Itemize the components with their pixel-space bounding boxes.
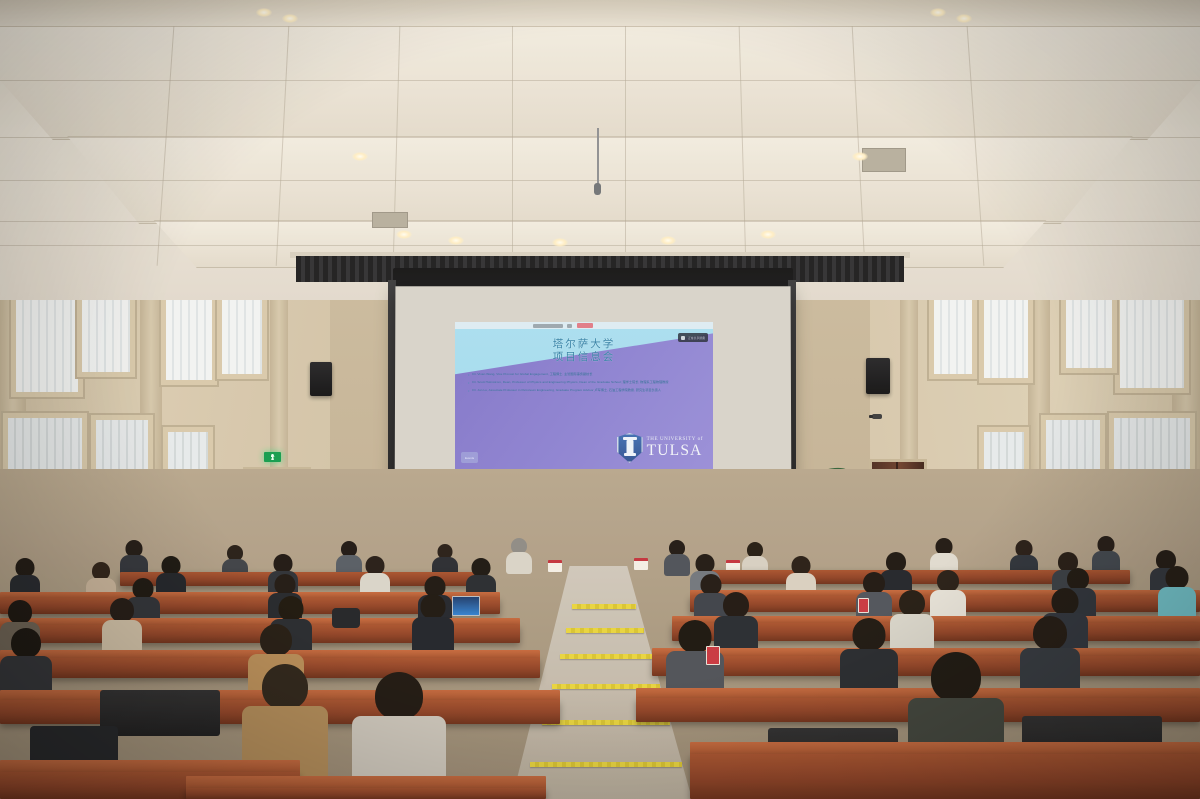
stage-spotlight	[588, 214, 605, 234]
attendee-head	[931, 652, 981, 702]
running-man-icon	[271, 454, 275, 460]
ceiling-downlight	[760, 230, 776, 239]
bullet-icon: •	[468, 372, 469, 377]
stage-spotlight	[718, 210, 735, 230]
attendee	[664, 540, 690, 575]
attendee	[102, 598, 142, 656]
auditorium-photo: 正在共享屏幕 塔尔萨大学 项目信息会 • Dr. Vivan Wang, Vic…	[0, 0, 1200, 799]
attendee-head	[863, 572, 885, 594]
ceiling-seam	[512, 26, 513, 266]
laptop-screen[interactable]	[452, 596, 480, 616]
list-item: • Dr. Jun Lu, Associate Professor in Pet…	[468, 388, 703, 393]
stair-hazard-tape	[560, 654, 652, 659]
attendee-torso	[506, 552, 532, 574]
desk-row	[690, 754, 1200, 799]
logo-main-text: TULSA	[647, 443, 703, 459]
attendee-head	[260, 624, 292, 656]
stair-hazard-tape	[572, 604, 636, 609]
attendee-head	[1067, 568, 1089, 590]
ceiling-tier	[0, 26, 1200, 140]
ceiling-top-strip	[0, 0, 1200, 30]
attendee-head	[133, 578, 154, 599]
attendee-head	[279, 596, 304, 621]
stage-lamp	[483, 214, 492, 236]
hanging-microphone	[594, 183, 601, 195]
stage-lamp	[700, 212, 709, 234]
attendee-head	[8, 600, 32, 624]
ceiling-downlight	[660, 236, 676, 245]
attendee-head	[937, 570, 959, 592]
stage-spotlight	[324, 208, 341, 228]
ceiling-downlight	[552, 238, 568, 247]
table-placard	[634, 558, 648, 570]
stage-lamp	[745, 213, 754, 235]
share-corner-top-left	[455, 322, 481, 338]
stage-lamp	[874, 206, 883, 228]
attendee	[120, 540, 148, 576]
slide-bottom-chip[interactable]: Events	[461, 452, 478, 463]
toolbar-item[interactable]	[533, 324, 563, 328]
stage-lamp	[412, 212, 421, 234]
exit-sign-icon	[264, 452, 281, 462]
slide-bottom-chip-label: Events	[465, 456, 474, 460]
ceiling-downlight	[930, 8, 946, 17]
ceiling-seam	[0, 80, 1200, 81]
slide-title-line1: 塔尔萨大学	[455, 338, 713, 351]
attendee	[412, 594, 454, 656]
slide-bullet-list: • Dr. Vivan Wang, Vice Provost for Globa…	[468, 372, 703, 397]
table-placard	[548, 560, 562, 572]
attendee-head	[275, 574, 296, 595]
ceiling-seam	[625, 26, 626, 266]
stage-lamp	[349, 210, 358, 232]
stage-lamp	[564, 214, 573, 236]
stage-lamp	[632, 214, 641, 236]
attendee-head	[110, 598, 134, 622]
security-camera-icon	[872, 414, 882, 419]
bullet-text: Dr. Vivan Wang, Vice Provost for Global …	[472, 372, 592, 377]
stair-hazard-tape	[566, 628, 644, 633]
ceiling-downlight	[396, 230, 412, 239]
ceiling-seam	[0, 180, 1200, 181]
attendee-head	[1052, 588, 1079, 615]
stage-spotlight	[838, 206, 855, 226]
attendee-head	[11, 628, 41, 658]
ceiling-vent	[862, 148, 906, 172]
ceiling-downlight	[852, 152, 868, 161]
share-corner-top-right	[687, 322, 713, 338]
ceiling-downlight	[448, 236, 464, 245]
slide-title: 塔尔萨大学 项目信息会	[455, 338, 713, 364]
attendee	[1158, 566, 1196, 622]
logo-wordmark: THE UNIVERSITY of TULSA	[647, 437, 703, 459]
ceiling-downlight	[956, 14, 972, 23]
backpack	[332, 608, 360, 628]
tulsa-logo: THE UNIVERSITY of TULSA	[617, 433, 703, 463]
list-item: • Dr. Vivan Wang, Vice Provost for Globa…	[468, 372, 703, 377]
toolbar-item[interactable]	[567, 324, 572, 328]
attendee-head	[886, 552, 906, 572]
ceiling-downlight	[256, 8, 272, 17]
attendee	[336, 541, 362, 575]
attendee-head	[421, 594, 446, 619]
hanging-microphone-cable	[597, 128, 599, 186]
phone-screen[interactable]	[706, 646, 720, 665]
attendee-head	[853, 618, 886, 651]
attendee-head	[723, 592, 749, 618]
ceiling-downlight	[282, 14, 298, 23]
seat-back	[100, 690, 220, 736]
stage-spotlight	[389, 209, 406, 229]
stage-lamp	[370, 208, 379, 230]
stage-lamp	[502, 213, 511, 235]
attendee-head	[262, 664, 308, 710]
attendee	[1092, 536, 1120, 574]
presentation-toolbar[interactable]	[455, 322, 713, 329]
tulsa-shield-icon	[617, 433, 643, 463]
shield-base	[624, 453, 636, 456]
presentation-slide[interactable]: 正在共享屏幕 塔尔萨大学 项目信息会 • Dr. Vivan Wang, Vic…	[455, 322, 713, 485]
desk-row	[186, 788, 546, 799]
ceiling-seam	[0, 245, 1200, 246]
bullet-icon: •	[468, 380, 469, 385]
stair-hazard-tape	[530, 762, 682, 767]
stage-spotlight	[517, 212, 534, 232]
attendee	[930, 538, 958, 574]
stage-spotlight	[762, 209, 779, 229]
wall-speaker	[310, 362, 332, 396]
attendee	[506, 538, 532, 574]
attendee-head	[1033, 616, 1067, 650]
stage-lamp	[820, 208, 829, 230]
attendee-torso	[664, 554, 690, 576]
ceiling-downlight	[352, 152, 368, 161]
list-item: • Dr. Scott Holmstrom, Dean, Professor o…	[468, 380, 703, 385]
slide-title-line2: 项目信息会	[455, 351, 713, 364]
bullet-text: Dr. Scott Holmstrom, Dean, Professor of …	[472, 380, 668, 385]
bullet-text: Dr. Jun Lu, Associate Professor in Petro…	[472, 388, 661, 393]
attendee-head	[899, 590, 925, 616]
record-indicator[interactable]	[577, 323, 593, 328]
attendee-head	[1166, 566, 1189, 589]
stage-spotlight	[650, 212, 667, 232]
bullet-icon: •	[468, 388, 469, 393]
attendee-head	[375, 672, 423, 720]
stage-spotlight	[459, 212, 476, 232]
wall-speaker	[866, 358, 890, 394]
ceiling-seam	[0, 137, 1200, 138]
phone-screen[interactable]	[858, 598, 869, 613]
